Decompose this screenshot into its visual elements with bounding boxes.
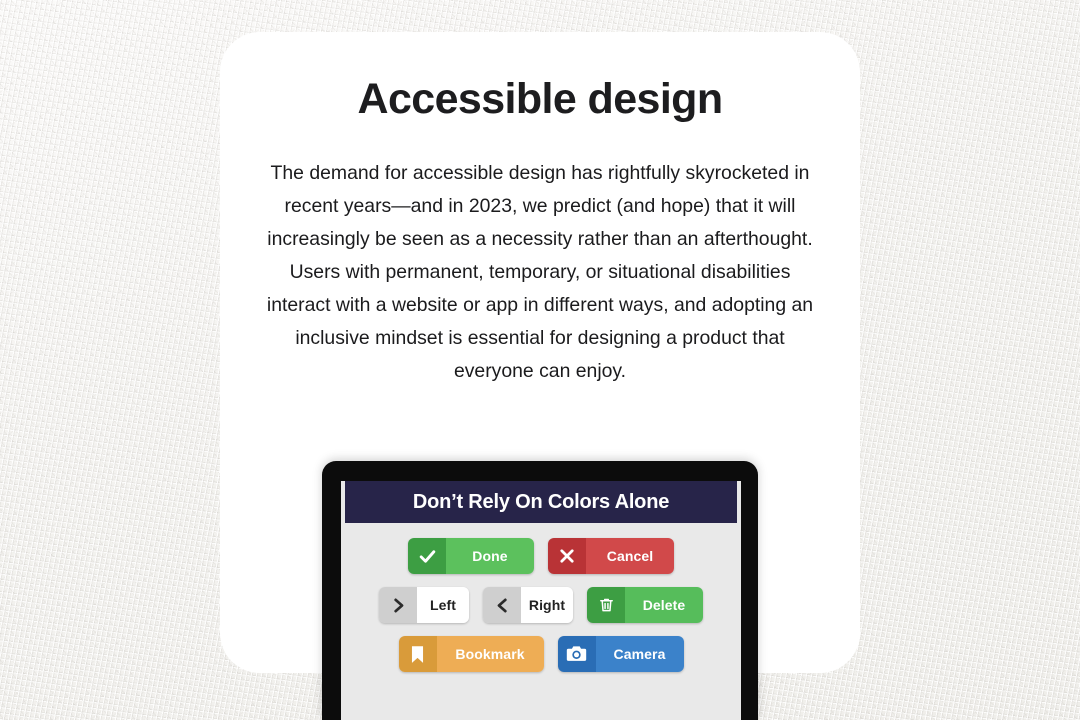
screen-header-title: Don’t Rely On Colors Alone bbox=[413, 491, 669, 514]
delete-button-label: Delete bbox=[625, 587, 703, 623]
cancel-button[interactable]: Cancel bbox=[548, 538, 674, 574]
demo-button-groups: Done Cancel bbox=[341, 523, 741, 672]
check-icon bbox=[408, 538, 446, 574]
button-row-1: Done Cancel bbox=[341, 538, 741, 574]
camera-button[interactable]: Camera bbox=[558, 636, 684, 672]
tablet-device-mockup: Don’t Rely On Colors Alone Done bbox=[322, 461, 758, 720]
left-button-label: Left bbox=[417, 587, 469, 623]
button-row-3: Bookmark Camera bbox=[341, 636, 741, 672]
right-button[interactable]: Right bbox=[483, 587, 573, 623]
chevron-right-icon bbox=[379, 587, 417, 623]
left-button[interactable]: Left bbox=[379, 587, 469, 623]
body-paragraph: The demand for accessible design has rig… bbox=[220, 123, 860, 388]
bookmark-button-label: Bookmark bbox=[437, 636, 544, 672]
delete-button[interactable]: Delete bbox=[587, 587, 703, 623]
done-button-label: Done bbox=[446, 538, 534, 574]
bookmark-icon bbox=[399, 636, 437, 672]
done-button[interactable]: Done bbox=[408, 538, 534, 574]
chevron-left-icon bbox=[483, 587, 521, 623]
camera-icon bbox=[558, 636, 596, 672]
bookmark-button[interactable]: Bookmark bbox=[399, 636, 544, 672]
close-x-icon bbox=[548, 538, 586, 574]
device-screen: Don’t Rely On Colors Alone Done bbox=[341, 481, 741, 720]
trash-icon bbox=[587, 587, 625, 623]
right-button-label: Right bbox=[521, 587, 573, 623]
button-row-2: Left Right bbox=[341, 587, 741, 623]
screen-header-bar: Don’t Rely On Colors Alone bbox=[345, 481, 737, 523]
camera-button-label: Camera bbox=[596, 636, 684, 672]
page-title: Accessible design bbox=[220, 32, 860, 123]
cancel-button-label: Cancel bbox=[586, 538, 674, 574]
